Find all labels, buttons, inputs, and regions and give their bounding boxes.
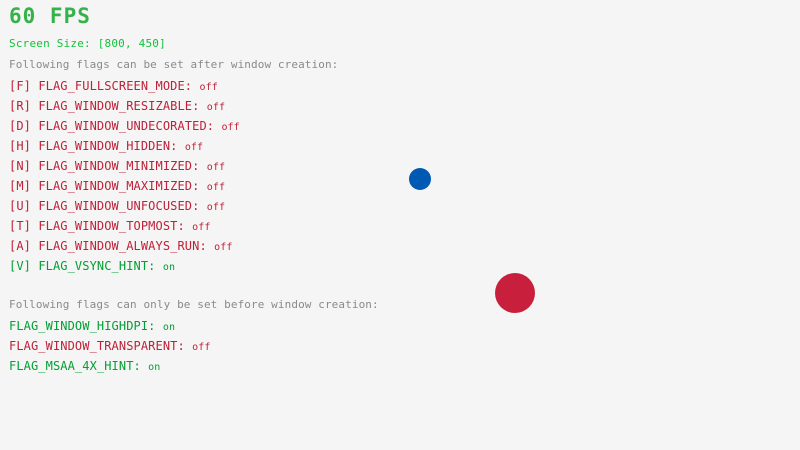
flag-name: FLAG_WINDOW_TRANSPARENT: xyxy=(9,339,185,353)
fps-counter: 60 FPS xyxy=(9,6,91,27)
flag-shortcut-key: [V] xyxy=(9,259,31,273)
flag-value: off xyxy=(207,182,225,193)
flag-row[interactable]: FLAG_WINDOW_HIGHDPI: on xyxy=(9,320,175,334)
flag-shortcut-key: [A] xyxy=(9,239,31,253)
flag-shortcut-key: [F] xyxy=(9,79,31,93)
flag-name: FLAG_WINDOW_RESIZABLE: xyxy=(38,99,199,113)
flag-name: FLAG_WINDOW_ALWAYS_RUN: xyxy=(38,239,206,253)
flag-row[interactable]: [D] FLAG_WINDOW_UNDECORATED: off xyxy=(9,120,240,134)
flag-value: off xyxy=(207,202,225,213)
flag-name: FLAG_FULLSCREEN_MODE: xyxy=(38,79,192,93)
flag-shortcut-key: [U] xyxy=(9,199,31,213)
flag-name: FLAG_WINDOW_HIGHDPI: xyxy=(9,319,156,333)
flag-shortcut-key: [N] xyxy=(9,159,31,173)
flag-value: on xyxy=(148,362,160,373)
flag-name: FLAG_WINDOW_MAXIMIZED: xyxy=(38,179,199,193)
flag-shortcut-key: [D] xyxy=(9,119,31,133)
screen-size-label: Screen Size: [800, 450] xyxy=(9,38,166,49)
blue-ball-shape xyxy=(409,168,431,190)
flag-name: FLAG_MSAA_4X_HINT: xyxy=(9,359,141,373)
flag-name: FLAG_WINDOW_MINIMIZED: xyxy=(38,159,199,173)
flag-row[interactable]: FLAG_WINDOW_TRANSPARENT: off xyxy=(9,340,211,354)
flag-value: off xyxy=(185,142,203,153)
flag-name: FLAG_WINDOW_TOPMOST: xyxy=(38,219,185,233)
flag-row[interactable]: [A] FLAG_WINDOW_ALWAYS_RUN: off xyxy=(9,240,232,254)
flag-name: FLAG_WINDOW_HIDDEN: xyxy=(38,139,177,153)
flag-row[interactable]: [T] FLAG_WINDOW_TOPMOST: off xyxy=(9,220,211,234)
flag-row[interactable]: [R] FLAG_WINDOW_RESIZABLE: off xyxy=(9,100,225,114)
flag-value: off xyxy=(214,242,232,253)
flag-row[interactable]: [N] FLAG_WINDOW_MINIMIZED: off xyxy=(9,160,225,174)
flag-row[interactable]: [U] FLAG_WINDOW_UNFOCUSED: off xyxy=(9,200,225,214)
flag-row[interactable]: [V] FLAG_VSYNC_HINT: on xyxy=(9,260,175,274)
flag-value: off xyxy=(207,162,225,173)
application-window: 60 FPS Screen Size: [800, 450] Following… xyxy=(0,0,800,450)
flag-value: off xyxy=(199,82,217,93)
flag-row[interactable]: FLAG_MSAA_4X_HINT: on xyxy=(9,360,160,374)
flag-value: off xyxy=(192,342,210,353)
section-note-before-creation: Following flags can only be set before w… xyxy=(9,299,379,310)
flag-value: off xyxy=(207,102,225,113)
flag-shortcut-key: [T] xyxy=(9,219,31,233)
flag-name: FLAG_WINDOW_UNFOCUSED: xyxy=(38,199,199,213)
flag-shortcut-key: [R] xyxy=(9,99,31,113)
flag-value: on xyxy=(163,262,175,273)
flag-shortcut-key: [M] xyxy=(9,179,31,193)
section-note-after-creation: Following flags can be set after window … xyxy=(9,59,338,70)
flag-shortcut-key: [H] xyxy=(9,139,31,153)
flag-row[interactable]: [H] FLAG_WINDOW_HIDDEN: off xyxy=(9,140,203,154)
flag-name: FLAG_WINDOW_UNDECORATED: xyxy=(38,119,214,133)
flag-row[interactable]: [F] FLAG_FULLSCREEN_MODE: off xyxy=(9,80,218,94)
flag-value: on xyxy=(163,322,175,333)
flag-name: FLAG_VSYNC_HINT: xyxy=(38,259,155,273)
flag-value: off xyxy=(221,122,239,133)
flag-value: off xyxy=(192,222,210,233)
flag-row[interactable]: [M] FLAG_WINDOW_MAXIMIZED: off xyxy=(9,180,225,194)
red-ball-shape xyxy=(495,273,535,313)
